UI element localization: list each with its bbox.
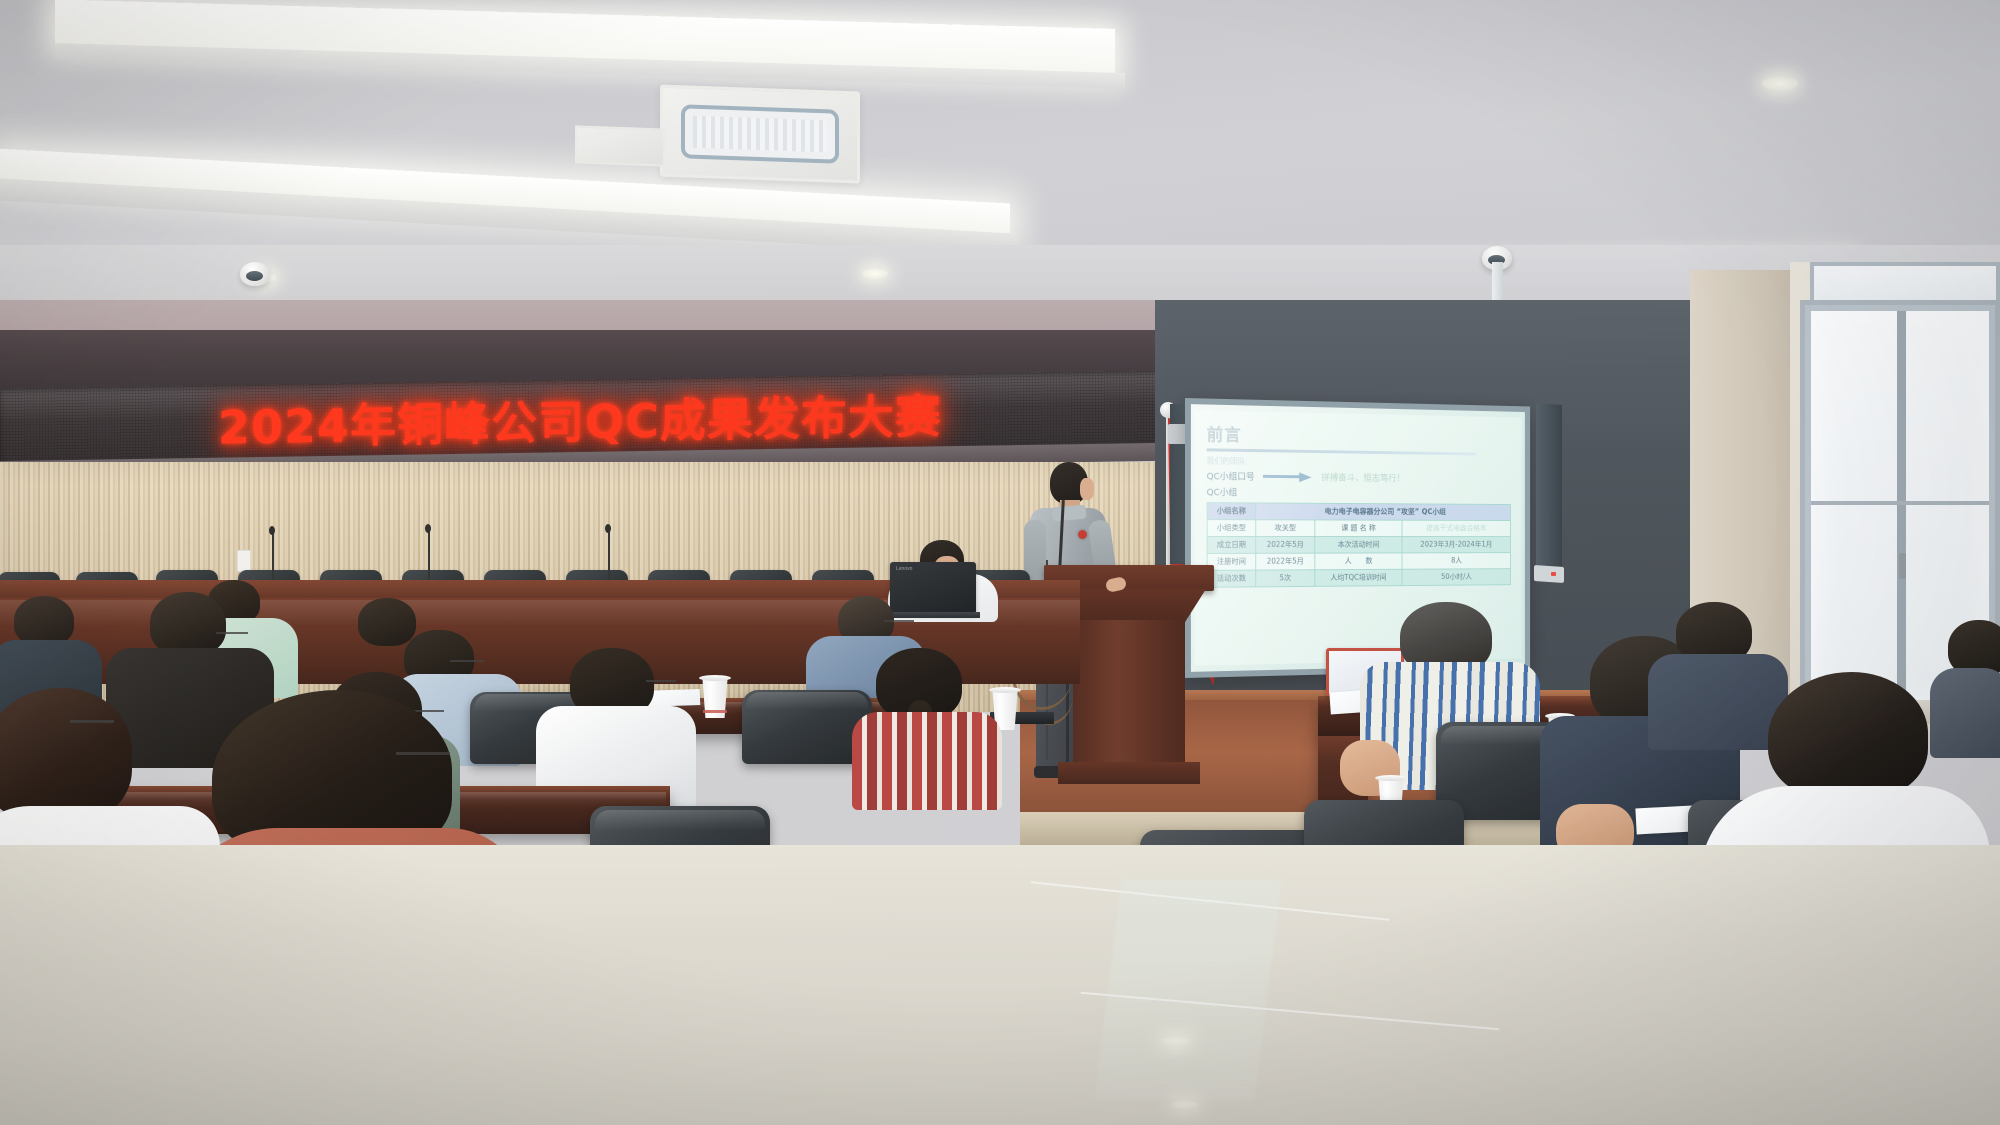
table-cell-header-value: 电力电子电容器分公司 “攻坚” QC小组 bbox=[1255, 503, 1510, 521]
led-banner-text: 2024年铜峰公司QC成果发布大赛 bbox=[218, 380, 942, 457]
microphone-head-icon bbox=[269, 526, 275, 535]
presenter-collar bbox=[1051, 505, 1086, 522]
glasses-icon bbox=[396, 752, 450, 755]
paper-cup-rim bbox=[699, 675, 731, 681]
chair-highlight bbox=[595, 810, 765, 844]
floor-light-reflection bbox=[1172, 1100, 1198, 1109]
slide-title-rule bbox=[1207, 448, 1476, 455]
window-mullion-vertical bbox=[1897, 311, 1906, 709]
screen-right-mount-block bbox=[1534, 565, 1564, 583]
table-cell: 2022年5月 bbox=[1255, 537, 1314, 554]
downlight-icon bbox=[862, 268, 888, 279]
screen-right-bracket bbox=[1536, 403, 1562, 573]
window-mullion-horizontal bbox=[1811, 501, 1989, 505]
floor bbox=[0, 845, 2000, 1125]
window-handle[interactable] bbox=[1899, 553, 1906, 579]
ceiling-access-panel bbox=[575, 125, 665, 166]
slide-subtitle: 我们的团队 bbox=[1207, 455, 1511, 470]
table-cell: 活动次数 bbox=[1207, 570, 1255, 587]
status-led-icon bbox=[1551, 572, 1556, 576]
paper-cup-rim bbox=[1375, 775, 1407, 781]
table-cell: 课 题 名 称 bbox=[1315, 520, 1402, 537]
table-row: 小组类型 攻关型 课 题 名 称 提高干式电容合格率 bbox=[1207, 520, 1510, 537]
operator-laptop-base bbox=[886, 612, 980, 618]
slide-title: 前言 bbox=[1207, 420, 1511, 450]
slide-slogan-row: QC小组口号 拼搏奋斗，恒志笃行！ bbox=[1207, 469, 1511, 485]
laptop-brand-label: Lenovo bbox=[896, 566, 912, 572]
glasses-icon bbox=[450, 660, 484, 662]
table-cell: 提高干式电容合格率 bbox=[1402, 520, 1511, 536]
air-conditioner-vent-icon bbox=[660, 85, 860, 184]
audience-body-plaid-red bbox=[852, 712, 1002, 810]
audience-body bbox=[1930, 668, 2000, 758]
table-cell: 8人 bbox=[1402, 553, 1511, 570]
slide-info-table: 小组名称 电力电子电容器分公司 “攻坚” QC小组 小组类型 攻关型 课 题 名… bbox=[1207, 502, 1511, 588]
glasses-icon bbox=[216, 632, 248, 634]
table-cell: 5次 bbox=[1255, 570, 1314, 587]
audience-head bbox=[150, 592, 226, 656]
table-row: 小组名称 电力电子电容器分公司 “攻坚” QC小组 bbox=[1207, 503, 1510, 521]
podium-body bbox=[1073, 620, 1185, 770]
glasses-icon bbox=[884, 620, 914, 622]
slide-slogan-label: QC小组口号 bbox=[1207, 469, 1255, 482]
table-row: 成立日期 2022年5月 本次活动时间 2023年3月-2024年1月 bbox=[1207, 537, 1510, 554]
table-cell: 50小时/人 bbox=[1402, 569, 1511, 586]
table-cell: 本次活动时间 bbox=[1315, 537, 1402, 554]
podium-base bbox=[1058, 762, 1200, 784]
downlight-icon bbox=[1762, 76, 1798, 91]
table-microphone bbox=[608, 528, 610, 582]
microphone-head-icon bbox=[425, 524, 431, 533]
table-row: 注册时间 2022年5月 人 数 8人 bbox=[1207, 553, 1510, 571]
table-cell: 2022年5月 bbox=[1255, 553, 1314, 570]
audience-head bbox=[0, 688, 132, 824]
presenter-face bbox=[1080, 478, 1094, 500]
arrow-right-icon bbox=[1263, 472, 1313, 481]
table-row: 活动次数 5次 人均TQC培训时间 50小时/人 bbox=[1207, 569, 1510, 588]
audience-head bbox=[14, 596, 74, 646]
glasses-icon bbox=[646, 680, 676, 682]
table-cell-header-label: 小组名称 bbox=[1207, 503, 1255, 520]
table-cell: 攻关型 bbox=[1255, 520, 1314, 537]
wall-light-switch[interactable] bbox=[237, 550, 251, 572]
table-cell: 人 数 bbox=[1315, 553, 1402, 570]
table-cell: 人均TQC培训时间 bbox=[1315, 569, 1402, 586]
audience-head bbox=[358, 598, 416, 646]
audience-head bbox=[1768, 672, 1928, 800]
table-cell: 小组类型 bbox=[1207, 520, 1255, 537]
conference-room-photo: 2024年铜峰公司QC成果发布大赛 前言 我们的团队 QC小组口号 bbox=[0, 0, 2000, 1125]
slide-slogan-text: 拼搏奋斗，恒志笃行！ bbox=[1321, 471, 1404, 485]
presenter-badge-icon bbox=[1078, 530, 1087, 539]
table-cell: 2023年3月-2024年1月 bbox=[1402, 537, 1511, 553]
floor-light-reflection bbox=[1162, 1036, 1190, 1046]
table-microphone bbox=[428, 528, 430, 582]
paper-cup-rim bbox=[989, 687, 1021, 693]
audience-body bbox=[1648, 654, 1788, 750]
glasses-icon bbox=[70, 720, 114, 723]
chair-highlight bbox=[746, 692, 868, 722]
paper-cup-band bbox=[703, 710, 727, 713]
table-microphone bbox=[272, 530, 274, 582]
security-camera-icon bbox=[240, 262, 270, 286]
table-cell: 注册时间 bbox=[1207, 553, 1255, 570]
table-cell: 成立日期 bbox=[1207, 537, 1255, 554]
slide-group-label: QC小组 bbox=[1207, 485, 1511, 500]
screen-floor-reflection bbox=[1094, 880, 1281, 1100]
microphone-head-icon bbox=[605, 524, 611, 533]
